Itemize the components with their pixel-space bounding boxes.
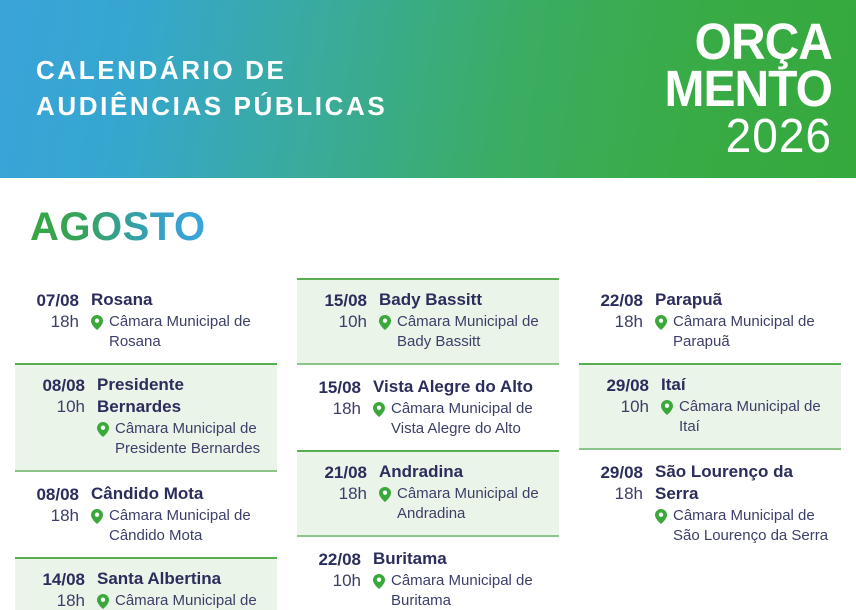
event-date: 29/08 bbox=[585, 375, 649, 396]
event-location-label: Câmara Municipal de Parapuã bbox=[673, 313, 815, 350]
map-pin-icon bbox=[655, 315, 667, 330]
page-title: CALENDÁRIO DE AUDIÊNCIAS PÚBLICAS bbox=[36, 52, 387, 124]
logo-line-orca: ORÇA bbox=[648, 18, 832, 65]
event-info: AndradinaCâmara Municipal de Andradina bbox=[379, 461, 553, 524]
event-info: Santa AlbertinaCâmara Municipal de Santa… bbox=[97, 568, 271, 610]
map-pin-icon bbox=[97, 422, 109, 437]
event-location-label: Câmara Municipal de Bady Bassitt bbox=[397, 313, 539, 350]
event-location-label: Câmara Municipal de Buritama bbox=[391, 572, 533, 609]
orcamento-logo: ORÇA MENTO 2026 bbox=[636, 18, 832, 162]
event-row[interactable]: 22/0818hParapuãCâmara Municipal de Parap… bbox=[579, 278, 841, 363]
event-when: 08/0818h bbox=[15, 483, 91, 527]
event-city: Buritama bbox=[373, 548, 553, 570]
event-location: Câmara Municipal de Bady Bassitt bbox=[379, 312, 553, 352]
map-pin-icon bbox=[91, 315, 103, 330]
map-pin-icon bbox=[373, 574, 385, 589]
event-time: 10h bbox=[21, 396, 85, 418]
event-location: Câmara Municipal de Presidente Bernardes bbox=[97, 419, 271, 459]
event-info: BuritamaCâmara Municipal de Buritama bbox=[373, 548, 553, 610]
event-when: 22/0818h bbox=[579, 289, 655, 333]
event-info: Bady BassittCâmara Municipal de Bady Bas… bbox=[379, 289, 553, 352]
event-location-label: Câmara Municipal de São Lourenço da Serr… bbox=[673, 507, 828, 544]
event-location-label: Câmara Municipal de Rosana bbox=[109, 313, 251, 350]
event-location-label: Câmara Municipal de Cândido Mota bbox=[109, 507, 251, 544]
map-pin-icon bbox=[91, 509, 103, 524]
logo-line-mento: MENTO bbox=[648, 65, 832, 112]
event-date: 29/08 bbox=[579, 462, 643, 483]
event-date: 08/08 bbox=[15, 484, 79, 505]
event-time: 10h bbox=[297, 570, 361, 592]
calendar-poster: CALENDÁRIO DE AUDIÊNCIAS PÚBLICAS ORÇA M… bbox=[0, 0, 856, 610]
event-date: 15/08 bbox=[303, 290, 367, 311]
event-location: Câmara Municipal de Buritama bbox=[373, 571, 553, 610]
map-pin-icon bbox=[379, 315, 391, 330]
poster-header: CALENDÁRIO DE AUDIÊNCIAS PÚBLICAS ORÇA M… bbox=[0, 0, 856, 178]
event-time: 18h bbox=[21, 590, 85, 610]
event-info: São Lourenço da SerraCâmara Municipal de… bbox=[655, 461, 835, 546]
event-date: 07/08 bbox=[15, 290, 79, 311]
event-row[interactable]: 15/0818hVista Alegre do AltoCâmara Munic… bbox=[297, 365, 559, 450]
events-column: 22/0818hParapuãCâmara Municipal de Parap… bbox=[579, 278, 841, 610]
event-info: Cândido MotaCâmara Municipal de Cândido … bbox=[91, 483, 271, 546]
event-time: 18h bbox=[303, 483, 367, 505]
event-location-label: Câmara Municipal de Itaí bbox=[679, 398, 821, 435]
event-city: Bady Bassitt bbox=[379, 289, 553, 311]
event-date: 22/08 bbox=[297, 549, 361, 570]
event-time: 10h bbox=[585, 396, 649, 418]
event-city: São Lourenço da Serra bbox=[655, 461, 835, 505]
event-when: 22/0810h bbox=[297, 548, 373, 592]
event-row[interactable]: 08/0810hPresidente BernardesCâmara Munic… bbox=[15, 363, 277, 472]
map-pin-icon bbox=[661, 400, 673, 415]
event-info: Vista Alegre do AltoCâmara Municipal de … bbox=[373, 376, 553, 439]
event-when: 29/0818h bbox=[579, 461, 655, 505]
event-time: 18h bbox=[579, 311, 643, 333]
event-location-label: Câmara Municipal de Andradina bbox=[397, 485, 539, 522]
event-city: Rosana bbox=[91, 289, 271, 311]
map-pin-icon bbox=[97, 594, 109, 609]
event-location: Câmara Municipal de Parapuã bbox=[655, 312, 835, 352]
event-row[interactable]: 08/0818hCândido MotaCâmara Municipal de … bbox=[15, 472, 277, 557]
event-when: 07/0818h bbox=[15, 289, 91, 333]
event-location-label: Câmara Municipal de Santa Albertina bbox=[115, 592, 257, 610]
event-city: Santa Albertina bbox=[97, 568, 271, 590]
events-column: 15/0810hBady BassittCâmara Municipal de … bbox=[297, 278, 559, 610]
event-row[interactable]: 14/0818hSanta AlbertinaCâmara Municipal … bbox=[15, 557, 277, 610]
event-info: ItaíCâmara Municipal de Itaí bbox=[661, 374, 835, 437]
event-when: 21/0818h bbox=[303, 461, 379, 505]
event-location: Câmara Municipal de Cândido Mota bbox=[91, 506, 271, 546]
event-when: 15/0818h bbox=[297, 376, 373, 420]
map-pin-icon bbox=[379, 487, 391, 502]
event-city: Vista Alegre do Alto bbox=[373, 376, 553, 398]
event-info: ParapuãCâmara Municipal de Parapuã bbox=[655, 289, 835, 352]
map-pin-icon bbox=[373, 402, 385, 417]
event-info: RosanaCâmara Municipal de Rosana bbox=[91, 289, 271, 352]
event-row[interactable]: 22/0810hBuritamaCâmara Municipal de Buri… bbox=[297, 537, 559, 610]
event-date: 08/08 bbox=[21, 375, 85, 396]
event-when: 29/0810h bbox=[585, 374, 661, 418]
event-time: 18h bbox=[15, 311, 79, 333]
event-location: Câmara Municipal de Vista Alegre do Alto bbox=[373, 399, 553, 439]
event-city: Presidente Bernardes bbox=[97, 374, 271, 418]
event-location: Câmara Municipal de Itaí bbox=[661, 397, 835, 437]
map-pin-icon bbox=[655, 509, 667, 524]
event-date: 21/08 bbox=[303, 462, 367, 483]
event-time: 18h bbox=[297, 398, 361, 420]
month-heading: AGOSTO bbox=[30, 205, 206, 250]
event-city: Cândido Mota bbox=[91, 483, 271, 505]
event-city: Andradina bbox=[379, 461, 553, 483]
event-location: Câmara Municipal de Santa Albertina bbox=[97, 591, 271, 610]
event-when: 14/0818h bbox=[21, 568, 97, 610]
event-city: Itaí bbox=[661, 374, 835, 396]
event-date: 22/08 bbox=[579, 290, 643, 311]
event-info: Presidente BernardesCâmara Municipal de … bbox=[97, 374, 271, 459]
event-row[interactable]: 21/0818hAndradinaCâmara Municipal de And… bbox=[297, 450, 559, 537]
event-location: Câmara Municipal de Andradina bbox=[379, 484, 553, 524]
event-when: 15/0810h bbox=[303, 289, 379, 333]
event-location: Câmara Municipal de São Lourenço da Serr… bbox=[655, 506, 835, 546]
events-columns: 07/0818hRosanaCâmara Municipal de Rosana… bbox=[0, 278, 856, 610]
event-date: 14/08 bbox=[21, 569, 85, 590]
event-row[interactable]: 29/0810hItaíCâmara Municipal de Itaí bbox=[579, 363, 841, 450]
event-time: 18h bbox=[579, 483, 643, 505]
event-city: Parapuã bbox=[655, 289, 835, 311]
event-when: 08/0810h bbox=[21, 374, 97, 418]
event-row[interactable]: 15/0810hBady BassittCâmara Municipal de … bbox=[297, 278, 559, 365]
event-location-label: Câmara Municipal de Presidente Bernardes bbox=[115, 420, 260, 457]
events-column: 07/0818hRosanaCâmara Municipal de Rosana… bbox=[15, 278, 277, 610]
event-time: 18h bbox=[15, 505, 79, 527]
event-location: Câmara Municipal de Rosana bbox=[91, 312, 271, 352]
event-location-label: Câmara Municipal de Vista Alegre do Alto bbox=[391, 400, 533, 437]
event-row[interactable]: 07/0818hRosanaCâmara Municipal de Rosana bbox=[15, 278, 277, 363]
event-date: 15/08 bbox=[297, 377, 361, 398]
event-row[interactable]: 29/0818hSão Lourenço da SerraCâmara Muni… bbox=[579, 450, 841, 557]
logo-line-year: 2026 bbox=[644, 112, 832, 162]
event-time: 10h bbox=[303, 311, 367, 333]
